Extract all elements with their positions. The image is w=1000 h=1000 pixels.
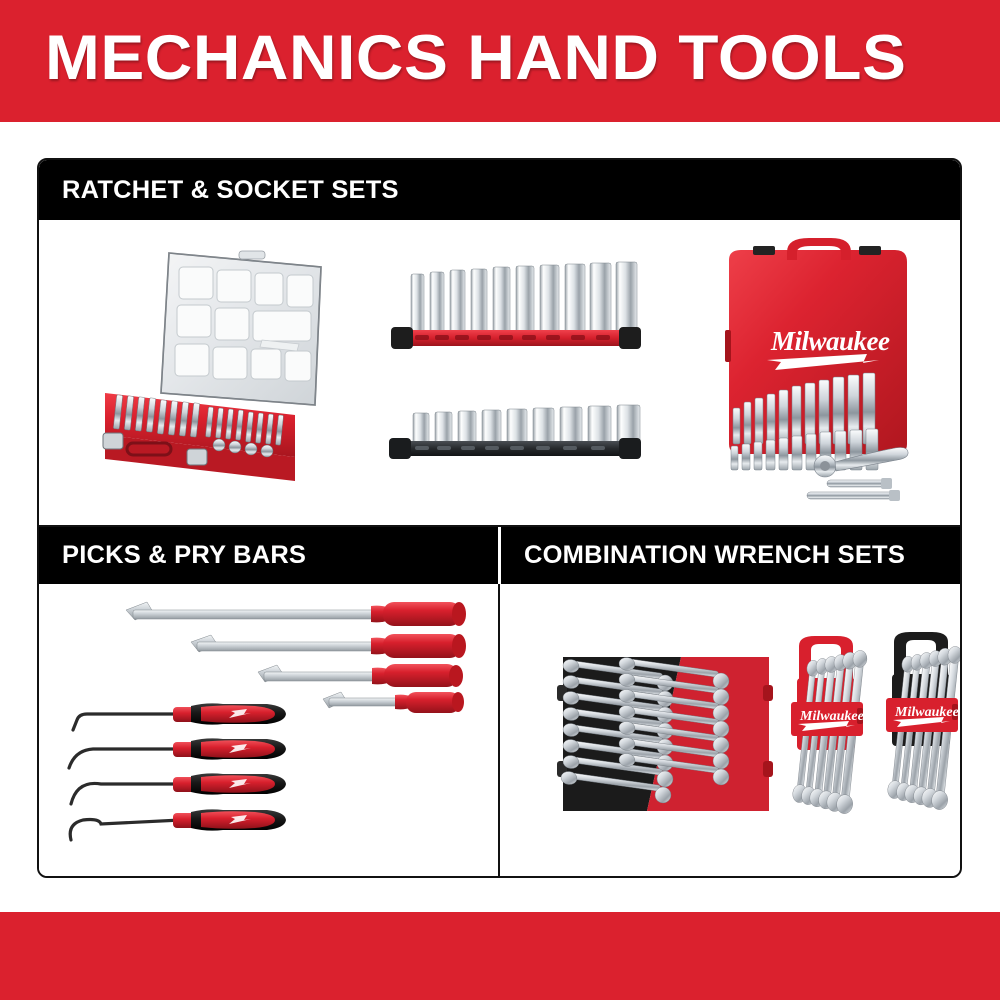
milwaukee-case: Milwaukee (725, 238, 907, 454)
svg-text:Milwaukee: Milwaukee (770, 326, 890, 356)
socket-rail-black (389, 438, 641, 459)
pick-1-90-degree-hook (73, 703, 286, 730)
footer-band (0, 912, 1000, 1000)
section-label-ratchet-socket-sets: RATCHET & SOCKET SETS (62, 176, 399, 205)
shallow-sockets (413, 405, 640, 443)
extension-short (827, 478, 892, 489)
section-body-ratchet-socket-sets: Milwaukee (39, 220, 960, 525)
pick-3-curved-hook (71, 773, 286, 804)
deep-sockets (411, 262, 637, 332)
pick-4-full-hook (70, 809, 286, 840)
case-lid (161, 251, 321, 405)
product-packout-socket-set-case[interactable] (99, 245, 399, 505)
header-band: MECHANICS HAND TOOLS (0, 0, 1000, 122)
product-wrench-tray-set[interactable] (555, 649, 775, 819)
product-pry-bar-set[interactable] (53, 592, 493, 712)
svg-text:Milwaukee: Milwaukee (894, 705, 959, 720)
poster-page: MECHANICS HAND TOOLS RATCHET & SOCKET SE… (0, 0, 1000, 1000)
product-wrench-rack-black[interactable]: Milwaukee (876, 630, 962, 830)
page-title: MECHANICS HAND TOOLS (45, 22, 1000, 94)
product-hook-and-pick-set[interactable] (55, 702, 345, 862)
socket-rail-red (391, 327, 641, 349)
product-wrench-rack-red[interactable]: Milwaukee (781, 634, 871, 834)
section-header-ratchet-socket-sets[interactable]: RATCHET & SOCKET SETS (39, 160, 960, 220)
pry-bar-1 (126, 602, 466, 626)
case-base (103, 393, 295, 481)
header-gap (498, 527, 501, 584)
product-milwaukee-red-case-set[interactable]: Milwaukee (699, 238, 934, 503)
section-body-combination-wrench-sets: Milwaukee (501, 584, 960, 876)
pry-bar-3 (258, 664, 463, 687)
extension-long (807, 490, 900, 501)
section-label-picks-pry-bars: PICKS & PRY BARS (62, 541, 306, 570)
product-deep-socket-rail[interactable] (389, 250, 639, 355)
product-shallow-socket-rail[interactable] (387, 385, 642, 465)
rack-label-red: Milwaukee (791, 702, 864, 736)
section-body-picks-pry-bars (39, 584, 498, 876)
svg-text:Milwaukee: Milwaukee (799, 709, 864, 724)
pry-bar-2 (191, 634, 466, 658)
section-label-combination-wrench-sets: COMBINATION WRENCH SETS (524, 541, 905, 570)
rack-label-black: Milwaukee (886, 698, 959, 732)
section-divider-vertical (498, 584, 500, 876)
pick-2-long-angled-pick (69, 738, 286, 768)
section-header-combination-wrench-sets[interactable]: COMBINATION WRENCH SETS (501, 527, 960, 584)
section-header-picks-pry-bars[interactable]: PICKS & PRY BARS (39, 527, 498, 584)
content-frame: RATCHET & SOCKET SETS (37, 158, 962, 878)
